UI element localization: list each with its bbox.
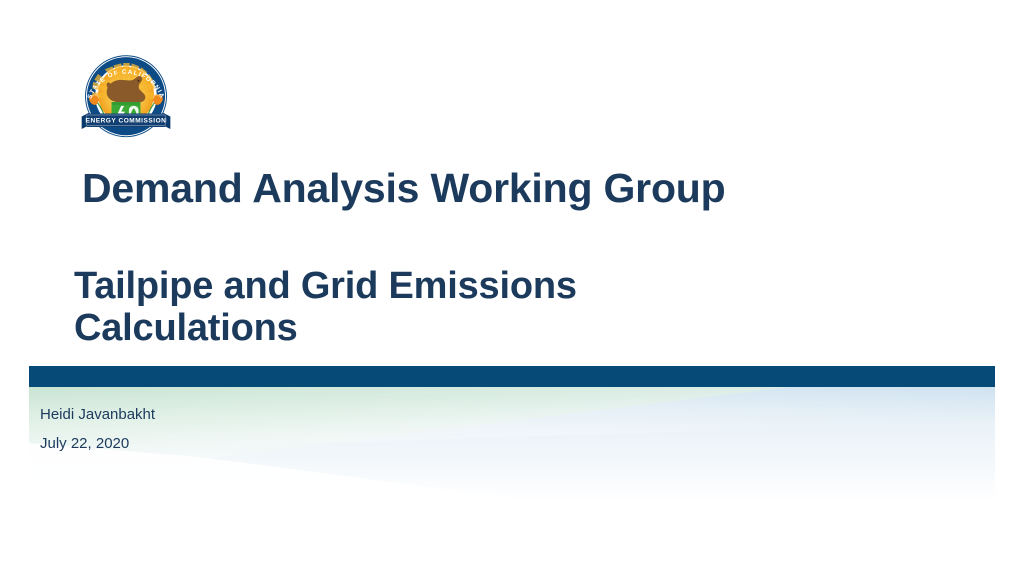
seal-banner-text: ENERGY COMMISSION bbox=[86, 118, 167, 125]
footer-accent-bar bbox=[29, 366, 995, 387]
title-line: Demand Analysis Working Group bbox=[82, 166, 962, 211]
subtitle-line-2: Calculations bbox=[74, 307, 974, 349]
page-subtitle: Tailpipe and Grid Emissions Calculations bbox=[74, 265, 974, 349]
footer-decorative-band bbox=[29, 366, 995, 500]
presenter-name: Heidi Javanbakht bbox=[40, 400, 155, 429]
presentation-date: July 22, 2020 bbox=[40, 429, 155, 458]
california-energy-commission-seal: STATE OF CALIFORNIA ENERGY COMMISSION bbox=[72, 48, 180, 142]
subtitle-line-1: Tailpipe and Grid Emissions bbox=[74, 265, 974, 307]
footer-gradient-area bbox=[29, 387, 995, 500]
slide-canvas: STATE OF CALIFORNIA ENERGY COMMISSION De… bbox=[0, 0, 1024, 576]
byline: Heidi Javanbakht July 22, 2020 bbox=[40, 400, 155, 458]
page-title: Demand Analysis Working Group bbox=[82, 166, 962, 211]
